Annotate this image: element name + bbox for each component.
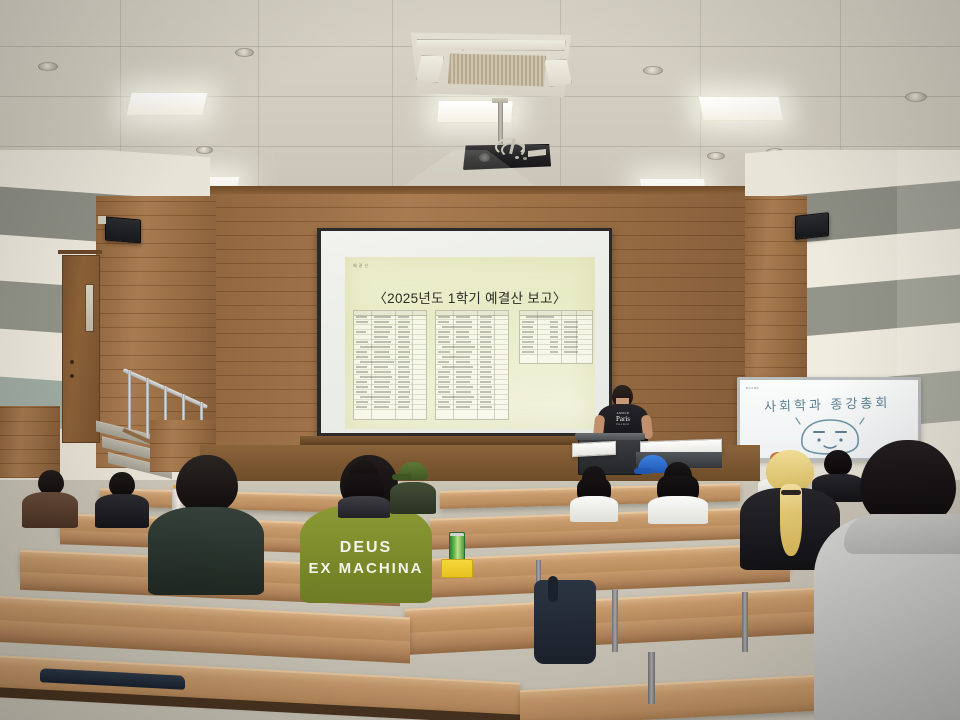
student-long-hair-dark: [338, 460, 390, 518]
torso: [390, 482, 436, 514]
desk-leg: [612, 590, 618, 652]
door-window: [85, 284, 94, 332]
ceiling-ac-cassette: ⌁: [404, 31, 574, 97]
speaker-left: [105, 216, 141, 243]
student-white-tee-right: [648, 462, 708, 524]
student-black-tee-left: [95, 472, 149, 528]
student-gray-hoodie: [824, 440, 960, 720]
recessed-downlight: [235, 48, 254, 57]
hair-tie: [781, 490, 801, 495]
ceiling-light-panel: [698, 96, 785, 121]
desk-leg: [648, 652, 655, 704]
student-dark-green-tee: [148, 455, 264, 595]
speaker-left-bracket: [98, 216, 106, 224]
speaker-right: [795, 212, 829, 240]
torso: [148, 507, 264, 595]
presenter-shirt-text-main: Paris: [608, 415, 638, 423]
recessed-downlight: [905, 92, 927, 102]
student-brown-shirt: [22, 470, 78, 528]
hoodie-hood: [844, 514, 960, 554]
student-green-cap: [390, 462, 436, 514]
backpack-strap: [548, 576, 558, 602]
yellow-container: [441, 559, 473, 578]
torso: [22, 492, 78, 528]
presenter-shirt-text-bottom: FRANCE: [604, 423, 642, 426]
recessed-downlight: [643, 66, 663, 75]
ceiling-projector: [455, 98, 565, 178]
torso: [648, 496, 708, 524]
torso: [338, 496, 390, 518]
door-frame: [58, 250, 102, 254]
exit-door[interactable]: [62, 255, 100, 443]
student-white-tee-center: [570, 466, 618, 522]
shirt-text-line1: DEUS: [310, 539, 422, 557]
slide-title: 〈2025년도 1학기 예결산 보고〉: [345, 287, 595, 307]
front-desk-left: [572, 441, 616, 457]
torso: [95, 494, 149, 528]
lectern-top: [575, 433, 645, 440]
presentation-slide: 예결산 〈2025년도 1학기 예결산 보고〉: [345, 257, 595, 429]
recessed-downlight: [707, 152, 725, 160]
head: [176, 455, 238, 513]
wall-left-low-panel: [0, 406, 60, 478]
budget-table-left: [353, 310, 427, 420]
shirt-text-line2: EX MACHINA: [304, 560, 428, 577]
green-drink-can: [449, 532, 465, 560]
lecture-hall-photo: ⌁: [0, 0, 960, 720]
projection-screen: 예결산 〈2025년도 1학기 예결산 보고〉: [317, 228, 612, 436]
ceiling-light-panel: [125, 92, 209, 116]
torso: [570, 496, 618, 522]
screen-surface: 예결산 〈2025년도 1학기 예결산 보고〉: [321, 231, 609, 433]
desk-leg: [742, 592, 748, 652]
slide-corner-label: 예결산: [353, 263, 370, 269]
cap-brim: [392, 474, 412, 480]
budget-table-right: [519, 310, 593, 364]
budget-table-center: [435, 310, 509, 420]
whiteboard-logo: BOARD: [746, 386, 759, 390]
whiteboard-handwriting: 사회학과 종강총회: [764, 392, 891, 415]
recessed-downlight: [38, 62, 58, 71]
backpack-navy: [534, 580, 596, 664]
wall-trim-top: [190, 186, 780, 194]
